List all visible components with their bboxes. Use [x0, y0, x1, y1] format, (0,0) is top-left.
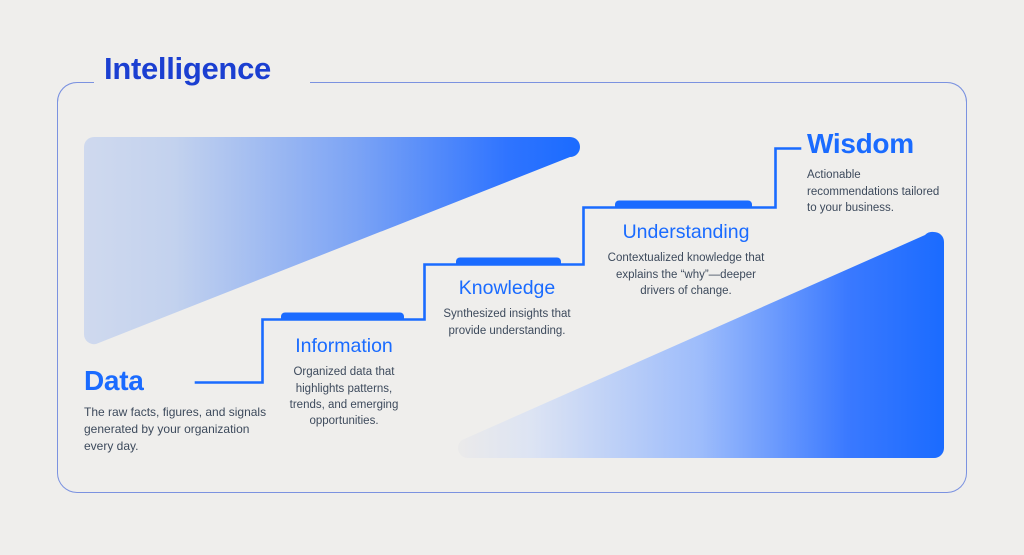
step-information-description: Organized data that highlights patterns,… [277, 364, 411, 429]
step-understanding: Understanding Contextualized knowledge t… [602, 222, 770, 299]
step-information: Information Organized data that highligh… [277, 336, 411, 430]
step-bar-knowledge [456, 258, 561, 265]
step-information-label: Information [277, 336, 411, 356]
step-knowledge-label: Knowledge [440, 278, 574, 298]
step-knowledge-description: Synthesized insights that provide unders… [440, 306, 574, 339]
step-knowledge: Knowledge Synthesized insights that prov… [440, 278, 574, 339]
step-data-label: Data [84, 366, 274, 395]
step-bar-information [281, 313, 404, 320]
step-wisdom-description: Actionable recommendations tailored to y… [807, 167, 947, 216]
infographic-stage: Intelligence [0, 0, 1024, 555]
step-data: Data The raw facts, figures, and signals… [84, 366, 274, 455]
step-bar-understanding [615, 201, 752, 208]
step-understanding-description: Contextualized knowledge that explains t… [602, 250, 770, 299]
step-understanding-label: Understanding [602, 222, 770, 242]
step-data-description: The raw facts, figures, and signals gene… [84, 404, 274, 455]
step-wisdom-label: Wisdom [807, 129, 947, 158]
step-wisdom: Wisdom Actionable recommendations tailor… [807, 129, 947, 216]
